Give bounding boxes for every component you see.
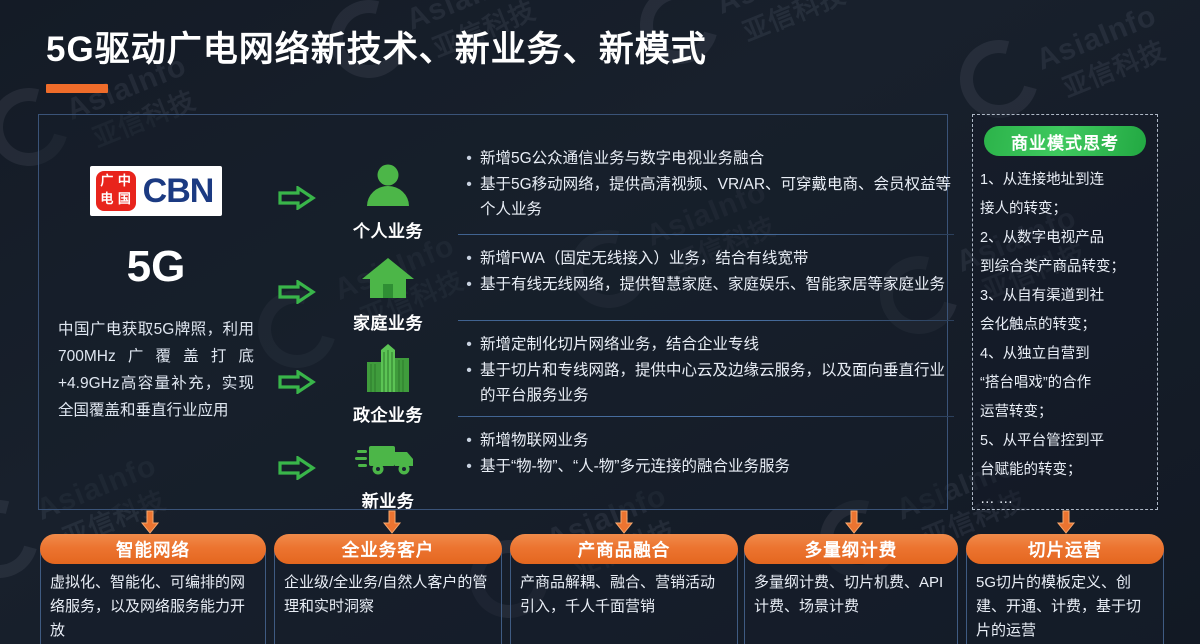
watermark-text-en: AsiaInfo (1032, 0, 1162, 77)
card-body: 企业级/全业务/自然人客户的管理和实时洞察 (274, 550, 502, 644)
watermark: AsiaInfo 亚信科技 (1032, 0, 1175, 110)
watermark-text-en: AsiaInfo (712, 0, 842, 21)
card-full-service-customer[interactable]: 全业务客户 企业级/全业务/自然人客户的管理和实时洞察 (274, 534, 502, 644)
bullet-dot-icon: • (458, 146, 480, 171)
orange-down-arrow-icon (844, 510, 864, 534)
green-right-arrow-icon (278, 456, 316, 480)
person-icon (361, 162, 415, 210)
bullet-text: 基于有线无线网络，提供智慧家庭、家庭娱乐、智能家居等家庭业务 (480, 272, 956, 297)
card-slice-operation[interactable]: 切片运营 5G切片的模板定义、创建、开通、计费，基于切片的运营 (966, 534, 1164, 644)
bullet-dot-icon: • (458, 454, 480, 479)
list-item: 到综合类产商品转变； (980, 253, 1156, 282)
bullet-dot-icon: • (458, 246, 480, 271)
house-icon (358, 254, 418, 302)
bullet-text: 基于5G移动网络，提供高清视频、VR/AR、可穿戴电商、会员权益等个人业务 (480, 172, 956, 222)
segment-new-business[interactable]: 新业务 (324, 436, 452, 512)
card-body: 虚拟化、智能化、可编排的网络服务，以及网络服务能力开放 (40, 550, 266, 644)
segment-personal[interactable]: 个人业务 (324, 162, 452, 242)
slide-root: AsiaInfo 亚信科技 AsiaInfo 亚信科技 AsiaInfo 亚信科… (0, 0, 1200, 644)
card-title: 智能网络 (40, 534, 266, 564)
card-title: 全业务客户 (274, 534, 502, 564)
list-item: … … (980, 485, 1156, 514)
bullet-column: • 新增5G公众通信业务与数字电视业务融合 • 基于5G移动网络，提供高清视频、… (458, 114, 956, 510)
segment-label: 个人业务 (324, 217, 452, 242)
bullet-text: 新增定制化切片网络业务，结合企业专线 (480, 332, 956, 357)
orange-down-arrow-icon (382, 510, 402, 534)
cbn-logo-text: CBN (143, 173, 214, 209)
list-item: 5、从平台管控到平 (980, 427, 1156, 456)
green-right-arrow-icon (278, 370, 316, 394)
section-divider (458, 416, 954, 417)
bullet-dot-icon: • (458, 428, 480, 453)
brand-headline: 5G (127, 242, 186, 292)
bullet-item: • 新增物联网业务 (458, 428, 956, 453)
bullet-text: 新增物联网业务 (480, 428, 956, 453)
card-smart-network[interactable]: 智能网络 虚拟化、智能化、可编排的网络服务，以及网络服务能力开放 (40, 534, 266, 644)
card-body: 多量纲计费、切片机费、API计费、场景计费 (744, 550, 958, 644)
bullet-item: • 基于有线无线网络，提供智慧家庭、家庭娱乐、智能家居等家庭业务 (458, 272, 956, 297)
list-item: “搭台唱戏”的合作 (980, 369, 1156, 398)
list-item: 2、从数字电视产品 (980, 224, 1156, 253)
segment-home[interactable]: 家庭业务 (324, 254, 452, 334)
bullet-dot-icon: • (458, 332, 480, 357)
card-body: 产商品解耦、融合、营销活动引入，千人千面营销 (510, 550, 738, 644)
cbn-mark-char: 国 (116, 192, 133, 209)
bullet-dot-icon: • (458, 172, 480, 197)
cbn-logo: 广 中 电 国 CBN (90, 166, 223, 216)
page-title: 5G驱动广电网络新技术、新业务、新模式 (46, 21, 707, 72)
card-title: 多量纲计费 (744, 534, 958, 564)
section-divider (458, 234, 954, 235)
bullet-text: 基于切片和专线网路，提供中心云及边缘云服务，以及面向垂直行业的平台服务业务 (480, 358, 956, 408)
bullet-text: 基于“物-物”、“人-物”多元连接的融合业务服务 (480, 454, 956, 479)
section-divider (458, 320, 954, 321)
bullet-item: • 新增FWA（固定无线接入）业务，结合有线宽带 (458, 246, 956, 271)
list-item: 3、从自有渠道到社 (980, 282, 1156, 311)
list-item: 接人的转变； (980, 195, 1156, 224)
green-right-arrow-icon (278, 280, 316, 304)
bullet-dot-icon: • (458, 272, 480, 297)
card-multi-dimension-billing[interactable]: 多量纲计费 多量纲计费、切片机费、API计费、场景计费 (744, 534, 958, 644)
card-product-fusion[interactable]: 产商品融合 产商品解耦、融合、营销活动引入，千人千面营销 (510, 534, 738, 644)
card-title: 切片运营 (966, 534, 1164, 564)
bullet-item: • 新增定制化切片网络业务，结合企业专线 (458, 332, 956, 357)
list-item: 运营转变； (980, 398, 1156, 427)
side-panel-list: 1、从连接地址到连 接人的转变； 2、从数字电视产品 到综合类产商品转变； 3、… (980, 166, 1156, 514)
cbn-mark-char: 电 (99, 192, 116, 209)
watermark: AsiaInfo 亚信科技 (712, 0, 855, 54)
bullet-group-government-enterprise: • 新增定制化切片网络业务，结合企业专线 • 基于切片和专线网路，提供中心云及边… (458, 320, 956, 409)
list-item: 台赋能的转变； (980, 456, 1156, 485)
bullet-item: • 基于5G移动网络，提供高清视频、VR/AR、可穿戴电商、会员权益等个人业务 (458, 172, 956, 222)
brand-description: 中国广电获取5G牌照，利用700MHz广覆盖打底+4.9GHz高容量补充，实现全… (58, 316, 254, 424)
bottom-card-row: 智能网络 虚拟化、智能化、可编排的网络服务，以及网络服务能力开放 全业务客户 企… (0, 510, 1200, 644)
bullet-dot-icon: • (458, 358, 480, 383)
list-item: 会化触点的转变； (980, 311, 1156, 340)
title-underline (46, 84, 108, 93)
buildings-icon (357, 342, 419, 394)
list-item: 4、从独立自营到 (980, 340, 1156, 369)
watermark-text-cn: 亚信科技 (1057, 29, 1175, 105)
bullet-item: • 基于“物-物”、“人-物”多元连接的融合业务服务 (458, 454, 956, 479)
bullet-group-home: • 新增FWA（固定无线接入）业务，结合有线宽带 • 基于有线无线网络，提供智慧… (458, 234, 956, 298)
orange-down-arrow-icon (614, 510, 634, 534)
bullet-group-personal: • 新增5G公众通信业务与数字电视业务融合 • 基于5G移动网络，提供高清视频、… (458, 146, 956, 223)
bullet-text: 新增5G公众通信业务与数字电视业务融合 (480, 146, 956, 171)
segment-label: 政企业务 (324, 401, 452, 426)
side-panel-badge: 商业模式思考 (984, 126, 1146, 156)
orange-down-arrow-icon (140, 510, 160, 534)
segment-government-enterprise[interactable]: 政企业务 (324, 342, 452, 426)
arrow-column (272, 114, 324, 510)
cbn-mark-char: 中 (116, 174, 133, 191)
bullet-item: • 新增5G公众通信业务与数字电视业务融合 (458, 146, 956, 171)
card-title: 产商品融合 (510, 534, 738, 564)
segment-icon-column: 个人业务 家庭业务 政企业务 (324, 114, 452, 510)
list-item: 1、从连接地址到连 (980, 166, 1156, 195)
bullet-item: • 基于切片和专线网路，提供中心云及边缘云服务，以及面向垂直行业的平台服务业务 (458, 358, 956, 408)
segment-label: 新业务 (324, 487, 452, 512)
bullet-text: 新增FWA（固定无线接入）业务，结合有线宽带 (480, 246, 956, 271)
card-body: 5G切片的模板定义、创建、开通、计费，基于切片的运营 (966, 550, 1164, 644)
truck-icon (355, 436, 421, 480)
brand-column: 广 中 电 国 CBN 5G 中国广电获取5G牌照，利用700MHz广覆盖打底+… (40, 118, 272, 508)
bullet-group-new-business: • 新增物联网业务 • 基于“物-物”、“人-物”多元连接的融合业务服务 (458, 416, 956, 480)
green-right-arrow-icon (278, 186, 316, 210)
watermark-text-cn: 亚信科技 (737, 0, 855, 49)
cbn-mark-char: 广 (99, 174, 116, 191)
segment-label: 家庭业务 (324, 309, 452, 334)
cbn-logo-mark-icon: 广 中 电 国 (96, 171, 136, 211)
